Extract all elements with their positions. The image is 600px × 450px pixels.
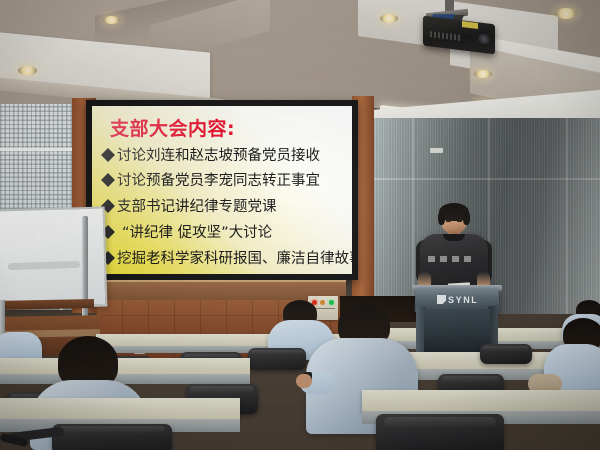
slide-bullet-3: 支部书记讲纪律专题党课 [102, 195, 277, 216]
downlight-icon [474, 70, 492, 78]
diamond-bullet-icon [101, 148, 115, 162]
downlight-icon [380, 14, 398, 23]
presenter-hair-side [438, 211, 445, 225]
slide-bullet-text: 挖掘老科学家科研报国、廉洁自律故事 [117, 247, 352, 268]
tshirt-graphic [428, 256, 476, 262]
desk-row-near-left [0, 398, 240, 420]
chair-foreground [52, 424, 172, 450]
desk-row-near-right [362, 390, 600, 412]
chair [480, 344, 532, 364]
chair [248, 348, 306, 370]
slide-bullet-1: 讨论刘连和赵志坡预备党员接收 [102, 144, 320, 165]
slide-bullet-text: 讨论预备党员李宠同志转正事宜 [117, 169, 320, 190]
podium-logo-text: SYNL [448, 295, 478, 305]
meeting-room-photo: 支部大会内容: 讨论刘连和赵志坡预备党员接收 讨论预备党员李宠同志转正事宜 支部… [0, 0, 600, 450]
presenter-hair-side [463, 211, 470, 225]
slide-title: 支部大会内容: [110, 114, 235, 141]
status-led-green [329, 300, 334, 305]
projection-screen: 支部大会内容: 讨论刘连和赵志坡预备党员接收 讨论预备党员李宠同志转正事宜 支部… [92, 106, 352, 274]
presenter-collar [443, 234, 465, 241]
wall-sensor-icon [430, 148, 443, 153]
slide-bullet-2: 讨论预备党员李宠同志转正事宜 [102, 169, 320, 190]
presenter-eye [457, 220, 462, 222]
chair-foreground [376, 414, 504, 450]
desk-row-mid-left [0, 358, 250, 375]
audience-member-hand [296, 374, 312, 388]
whiteboard[interactable] [0, 206, 107, 309]
slide-bullet-text: 讨论刘连和赵志坡预备党员接收 [117, 144, 320, 165]
diamond-bullet-icon [101, 173, 115, 187]
downlight-icon [103, 16, 120, 24]
slide-bullet-4: “讲纪律 促攻坚”大讨论 [102, 221, 272, 242]
slide-bullet-text: 支部书记讲纪律专题党课 [117, 195, 277, 216]
desk-front-panel [0, 374, 250, 384]
downlight-icon [555, 8, 577, 19]
status-led-orange [320, 300, 325, 305]
slide-bullet-5: 挖掘老科学家科研报国、廉洁自律故事 [102, 247, 352, 268]
downlight-icon [18, 66, 37, 75]
slide-bullet-text: “讲纪律 促攻坚”大讨论 [122, 221, 272, 242]
presenter-eye [446, 220, 451, 222]
